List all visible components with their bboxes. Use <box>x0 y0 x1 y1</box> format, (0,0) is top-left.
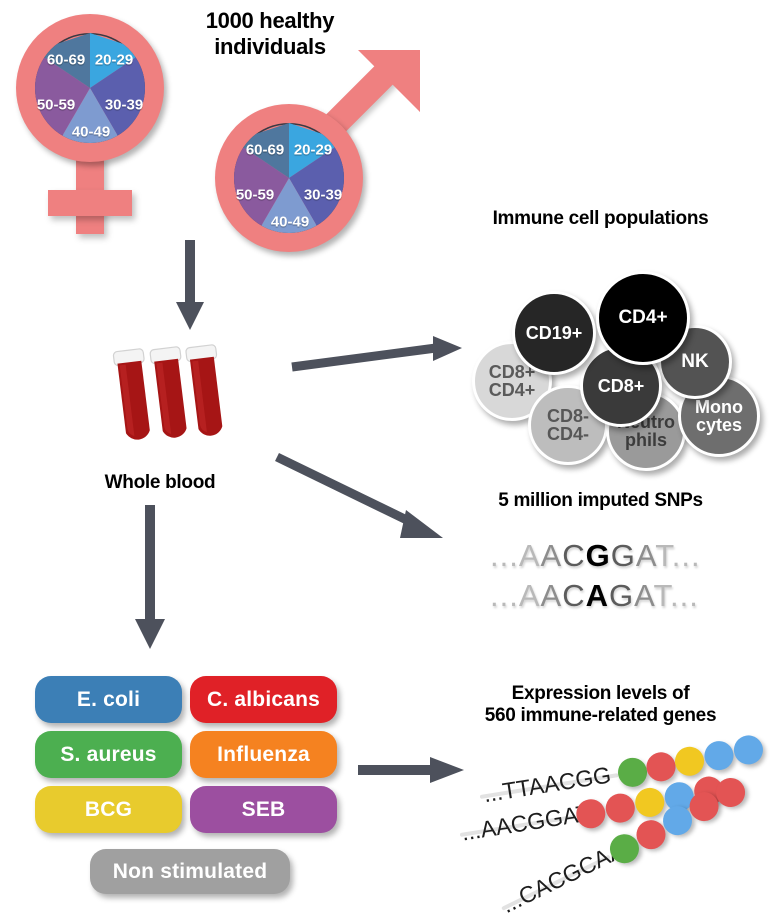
title-expression-line2: 560 immune-related genes <box>430 705 771 727</box>
snp-seg: ... <box>490 578 519 613</box>
pie-label-30-39-m: 30-39 <box>304 187 342 204</box>
snp-variant-allele: A <box>586 578 609 613</box>
cell-line-2: cytes <box>695 416 743 434</box>
immune-cell-cd4p: CD4+ <box>596 271 690 365</box>
pie-label-50-59: 50-59 <box>37 97 75 114</box>
stimulus-influenza[interactable]: Influenza <box>190 731 337 778</box>
title-immune-cell-populations: Immune cell populations <box>430 208 771 230</box>
male-symbol-group: 20-29 30-39 40-49 50-59 60-69 <box>205 52 430 252</box>
pie-label-60-69-m: 60-69 <box>246 142 284 159</box>
stimulus-label: SEB <box>242 798 286 822</box>
cell-line-1: CD4+ <box>618 308 667 327</box>
expression-strand-group: ...TTAACGG ...AACGGAT ...CACGCAA <box>470 742 771 917</box>
expression-bead <box>673 745 706 778</box>
cell-line-1: Mono <box>695 398 743 416</box>
stimulus-label: Non stimulated <box>113 860 267 884</box>
expression-bead <box>732 733 765 766</box>
arrow-blood-to-immune <box>290 330 465 380</box>
stimulus-e-coli[interactable]: E. coli <box>35 676 182 723</box>
cell-line-1: NK <box>681 352 708 371</box>
expression-bead <box>702 739 735 772</box>
arrow-blood-to-snps <box>275 450 455 550</box>
snp-seg: A <box>541 538 563 573</box>
stimulus-label: E. coli <box>77 688 140 712</box>
snp-sequence-allele-a: ...AACAGAT... <box>490 578 699 614</box>
expression-bead <box>616 756 649 789</box>
snp-variant-allele: G <box>586 538 611 573</box>
pie-label-20-29: 20-29 <box>95 52 133 69</box>
cell-line-2: CD4+ <box>489 381 536 399</box>
immune-cell-cluster: CD8+CD4+ CD8-CD4- Neutrophils Monocytes … <box>472 243 771 423</box>
cell-line-1: CD19+ <box>526 324 583 342</box>
snp-seg: T <box>654 578 671 613</box>
snp-seg: ... <box>670 578 699 613</box>
snp-seg: C <box>562 538 585 573</box>
snp-seg: A <box>519 578 541 613</box>
snp-seg: A <box>634 578 653 613</box>
whole-blood-tubes <box>100 340 230 460</box>
immune-cell-cd19p: CD19+ <box>512 291 596 375</box>
stimulus-label: S. aureus <box>60 743 156 767</box>
snp-seg: A <box>519 538 541 573</box>
venus-crossbar <box>48 190 132 216</box>
arrow-blood-to-stimuli <box>130 505 170 650</box>
figure-canvas: 1000 healthy individuals 20-29 30-39 40-… <box>0 0 771 922</box>
pie-label-40-49: 40-49 <box>72 124 110 141</box>
snp-seg: T <box>655 538 672 573</box>
stimulus-label: C. albicans <box>207 688 320 712</box>
stimulus-label: Influenza <box>217 743 310 767</box>
stimulus-non-stimulated[interactable]: Non stimulated <box>90 849 290 894</box>
pie-label-60-69: 60-69 <box>47 52 85 69</box>
stimulus-bcg[interactable]: BCG <box>35 786 182 833</box>
arrow-cohort-to-blood <box>170 240 210 332</box>
snp-seg: A <box>636 538 655 573</box>
pie-label-40-49-m: 40-49 <box>271 214 309 231</box>
snp-seg: A <box>541 578 563 613</box>
cell-line-2: phils <box>617 431 675 449</box>
expression-bead <box>644 750 677 783</box>
pie-label-20-29-m: 20-29 <box>294 142 332 159</box>
snp-sequence-allele-g: ...AACGGAT... <box>490 538 701 574</box>
female-symbol-group: 20-29 30-39 40-49 50-59 60-69 <box>8 8 198 238</box>
cell-line-1: CD8+ <box>598 377 645 395</box>
pie-label-50-59-m: 50-59 <box>236 187 274 204</box>
label-whole-blood: Whole blood <box>60 472 260 494</box>
cell-line-2: CD4- <box>547 425 589 443</box>
snp-seg: G <box>611 538 636 573</box>
snp-seg: C <box>562 578 585 613</box>
snp-seg: ... <box>672 538 701 573</box>
stimulus-s-aureus[interactable]: S. aureus <box>35 731 182 778</box>
expression-bead <box>604 792 637 825</box>
title-imputed-snps: 5 million imputed SNPs <box>430 490 771 512</box>
stimulus-c-albicans[interactable]: C. albicans <box>190 676 337 723</box>
pie-label-30-39: 30-39 <box>105 97 143 114</box>
title-expression-levels: Expression levels of 560 immune-related … <box>430 683 771 728</box>
strand-sequence: ...AACGGAT <box>460 800 593 847</box>
stimulus-label: BCG <box>85 798 132 822</box>
cell-line-1: CD8- <box>547 407 589 425</box>
title-expression-line1: Expression levels of <box>430 683 771 705</box>
arrow-stimuli-to-expression <box>358 755 468 787</box>
snp-seg: ... <box>490 538 519 573</box>
stimulus-seb[interactable]: SEB <box>190 786 337 833</box>
snp-seg: G <box>609 578 634 613</box>
